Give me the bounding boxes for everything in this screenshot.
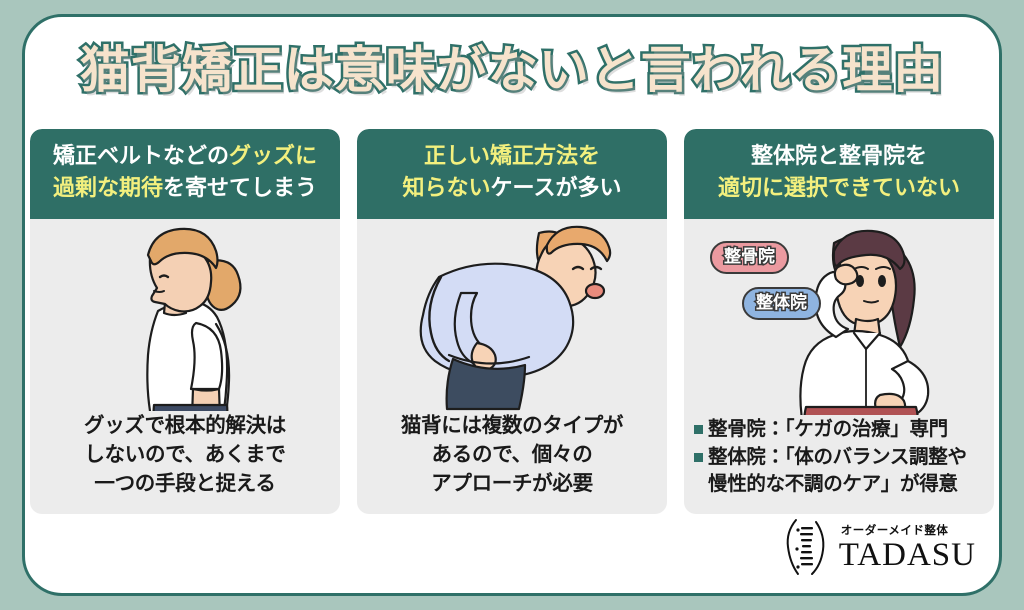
logo-tagline: オーダーメイド整体 [841, 522, 949, 538]
card-caption-method: 猫背には複数のタイプが あるので、個々の アプローチが必要 [357, 411, 667, 514]
bullet-text: 整体院：「体のバランス調整や [708, 445, 967, 468]
caption-line: しないので、あくまで [38, 440, 332, 469]
card-header-line: 正しい矯正方法を [365, 141, 659, 173]
header-segment: 矯正ベルトなどの [53, 144, 229, 169]
card-caption-clinic-choice: 整骨院：「ケガの治療」専門 整体院：「体のバランス調整や 慢性的な不調のケア」が… [684, 415, 994, 514]
bullet-text: 慢性的な不調のケア」が得意 [708, 472, 958, 495]
caption-line: アプローチが必要 [365, 469, 659, 498]
page-title: 猫背矯正は意味がないと言われる理由 [80, 43, 945, 98]
header-segment-accent: 過剰な期待 [53, 176, 163, 201]
bullet-square-icon [694, 425, 703, 434]
card-header-line: 知らないケースが多い [365, 173, 659, 205]
badge-seikotsuin: 整骨院 [710, 241, 789, 274]
reason-card-method: 正しい矯正方法を 知らないケースが多い [357, 129, 667, 514]
card-header-clinic-choice: 整体院と整骨院を 適切に選択できていない [684, 129, 994, 219]
card-header-line: 適切に選択できていない [692, 173, 986, 205]
reason-card-goods: 矯正ベルトなどのグッズに 過剰な期待を寄せてしまう [30, 129, 340, 514]
header-segment-accent: 正しい矯正方法を [424, 144, 600, 169]
bullet-square-icon [694, 453, 703, 462]
caption-line: あるので、個々の [365, 440, 659, 469]
header-segment-accent: 適切に選択できていない [718, 176, 960, 201]
card-header-line: 矯正ベルトなどのグッズに [38, 141, 332, 173]
card-header-line: 整体院と整骨院を [692, 141, 986, 173]
reason-card-clinic-choice: 整体院と整骨院を 適切に選択できていない [684, 129, 994, 514]
bullet-item: 整体院：「体のバランス調整や [694, 443, 984, 471]
spine-mark-icon [783, 516, 829, 578]
card-caption-goods: グッズで根本的解決は しないので、あくまで 一つの手段と捉える [30, 411, 340, 514]
card-header-line: 過剰な期待を寄せてしまう [38, 173, 332, 205]
page-title-area: 猫背矯正は意味がないと言われる理由 [22, 32, 1002, 108]
header-segment: ケースが多い [491, 176, 622, 201]
bullet-item: 整骨院：「ケガの治療」専門 [694, 415, 984, 443]
caption-line: グッズで根本的解決は [38, 411, 332, 440]
header-segment: 整体院と整骨院を [751, 144, 927, 169]
header-segment-accent: 知らない [403, 176, 491, 201]
badge-seitaiin: 整体院 [742, 287, 821, 320]
brand-logo: オーダーメイド整体 TADASU [783, 516, 976, 578]
header-segment-accent: グッズに [229, 144, 317, 169]
reason-card-list: 矯正ベルトなどのグッズに 過剰な期待を寄せてしまう [30, 129, 994, 514]
illustration-woman-bending-back-pain [357, 219, 667, 411]
logo-brand-name: TADASU [839, 539, 976, 572]
logo-text-block: オーダーメイド整体 TADASU [839, 522, 976, 572]
bullet-text: 整骨院：「ケガの治療」専門 [708, 417, 948, 440]
card-header-method: 正しい矯正方法を 知らないケースが多い [357, 129, 667, 219]
bullet-item-continuation: 慢性的な不調のケア」が得意 [694, 470, 984, 498]
header-segment: を寄せてしまう [163, 176, 317, 201]
caption-line: 一つの手段と捉える [38, 469, 332, 498]
illustration-woman-side-profile-slouch [30, 219, 340, 411]
illustration-woman-confused-thinking: 整骨院 整体院 [684, 219, 994, 415]
infographic-canvas: 猫背矯正は意味がないと言われる理由 矯正ベルトなどのグッズに 過剰な期待を寄せて… [0, 0, 1024, 610]
caption-line: 猫背には複数のタイプが [365, 411, 659, 440]
card-header-goods: 矯正ベルトなどのグッズに 過剰な期待を寄せてしまう [30, 129, 340, 219]
